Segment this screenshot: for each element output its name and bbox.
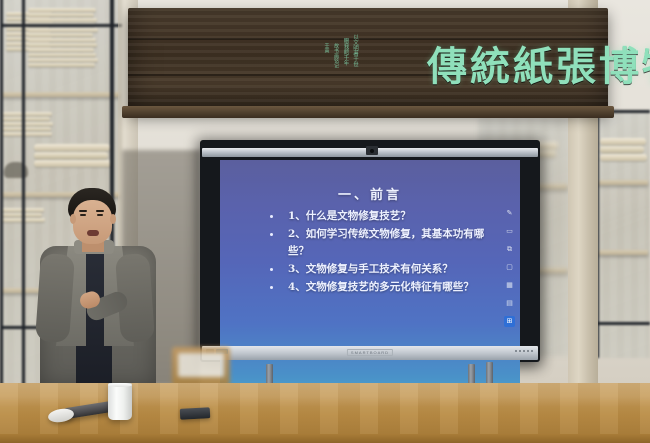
presenter-arm xyxy=(35,253,75,343)
smartboard: 一、前言 1、什么是文物修复技艺？ 2、如何学习传统文物修复，其基本功有哪些？ … xyxy=(200,140,540,362)
slide-bullet: 2、如何学习传统文物修复，其基本功有哪些？ xyxy=(266,226,500,260)
apps-icon[interactable]: ⊞ xyxy=(504,316,515,327)
cabinet-frame xyxy=(596,322,650,325)
table-front-edge xyxy=(0,434,650,443)
slide-bullet-list: 1、什么是文物修复技艺？ 2、如何学习传统文物修复，其基本功有哪些？ 3、文物修… xyxy=(266,208,500,297)
presenter-eyebrow xyxy=(96,210,104,212)
presenter-eye xyxy=(80,214,86,216)
pen-icon[interactable]: ✎ xyxy=(504,208,515,219)
capture-icon[interactable]: ⧉ xyxy=(504,244,515,255)
presenter-mouth xyxy=(87,230,99,236)
right-display-cabinet xyxy=(596,110,650,358)
smartboard-brand-label: SMARTBOARD xyxy=(347,349,393,356)
paper-roll-stack xyxy=(34,144,112,167)
presenter-ear xyxy=(70,214,76,224)
plaque-signature-column: 贈我館千年 xyxy=(342,34,349,92)
cabinet-frame xyxy=(0,0,3,388)
control-dot-icon[interactable] xyxy=(527,350,529,352)
presenter-description: man in gray jacket over dark sweater, sp… xyxy=(34,188,35,189)
cabinet-frame xyxy=(22,0,25,388)
control-dot-icon[interactable] xyxy=(531,350,533,352)
control-dot-icon[interactable] xyxy=(523,350,525,352)
presenter: man in gray jacket over dark sweater, sp… xyxy=(34,188,162,388)
slide-side-toolbar[interactable]: ✎ ▭ ⧉ ▢ ▦ ▤ ⊞ xyxy=(503,208,516,327)
shelf xyxy=(598,250,648,255)
grid-icon[interactable]: ▦ xyxy=(504,280,515,291)
plaque-signature-column: 故书画铭记 xyxy=(333,34,340,92)
slide-bullet: 1、什么是文物修复技艺？ xyxy=(266,208,500,225)
window-icon[interactable]: ▢ xyxy=(504,262,515,273)
paper-roll-stack xyxy=(28,8,98,67)
plaque-main-text: 傳統紙張博物館 xyxy=(358,34,650,92)
screenshot-root: 傳統紙張博物館 以文明著于世 贈我館千年 故书画铭记 壬寅 一、前言 1、什么是… xyxy=(0,0,650,443)
paper-roll-stack xyxy=(600,138,648,161)
eraser-icon[interactable]: ▭ xyxy=(504,226,515,237)
paper-roll-stack xyxy=(2,112,54,136)
calendar-icon[interactable]: ▤ xyxy=(504,298,515,309)
cabinet-frame xyxy=(0,24,122,27)
shelf xyxy=(598,180,648,185)
museum-plaque: 傳統紙張博物館 以文明著于世 贈我館千年 故书画铭记 壬寅 xyxy=(128,8,608,112)
plaque-signature-column: 壬寅 xyxy=(323,34,330,92)
presenter-ear xyxy=(110,214,116,224)
bezel-right-controls[interactable] xyxy=(515,350,533,352)
slide-title: 一、前言 xyxy=(220,184,520,203)
plaque-bottom-edge xyxy=(122,106,614,118)
control-dot-icon[interactable] xyxy=(515,350,517,352)
presenter-eye xyxy=(97,214,103,216)
slide-bullet: 3、文物修复与手工技术有何关系？ xyxy=(266,261,500,278)
shelf xyxy=(2,92,120,97)
slide-bullet: 4、文物修复技艺的多元化特征有哪些？ xyxy=(266,279,500,296)
chair xyxy=(172,347,230,387)
plaque-signature: 以文明著于世 贈我館千年 故书画铭记 壬寅 xyxy=(296,34,358,92)
phone[interactable] xyxy=(180,407,211,420)
cup[interactable] xyxy=(108,383,132,420)
presenter-face xyxy=(73,200,112,244)
control-dot-icon[interactable] xyxy=(519,350,521,352)
smartboard-bezel: SMARTBOARD xyxy=(202,346,538,360)
plaque-signature-column: 以文明著于世 xyxy=(352,34,359,92)
camera-icon xyxy=(366,146,378,155)
presenter-eyebrow xyxy=(79,210,87,212)
